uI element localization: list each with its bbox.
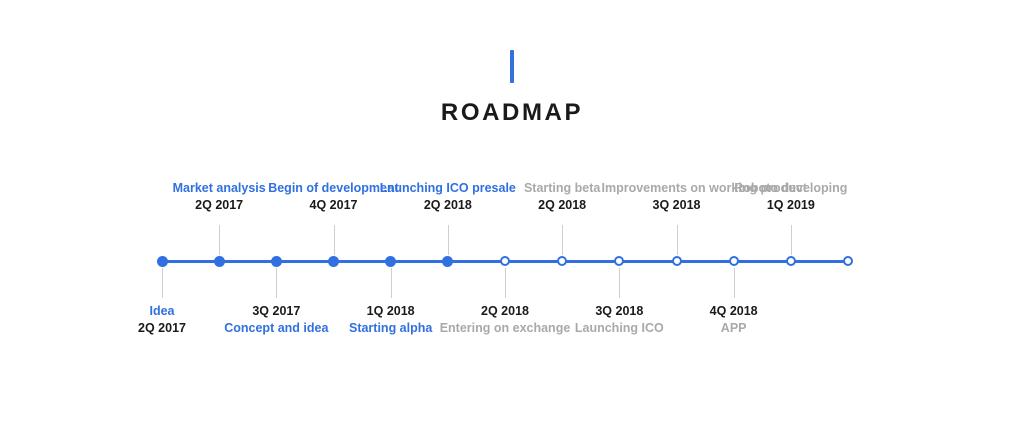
milestone-dot-hollow-icon — [500, 256, 510, 266]
milestone-label-top-5[interactable]: Roboto developing1Q 2019 — [716, 180, 866, 213]
milestone-dot-filled-icon — [214, 256, 225, 267]
milestone-dot-filled-icon — [328, 256, 339, 267]
milestone-dot-hollow-icon — [672, 256, 682, 266]
milestone-date: 4Q 2018 — [659, 303, 809, 320]
roadmap-infographic: ROADMAP Market analysis2Q 2017Begin of d… — [0, 0, 1024, 435]
connector-tick — [791, 225, 792, 255]
milestone-dot-hollow-icon — [843, 256, 853, 266]
milestone-dot-filled-icon — [271, 256, 282, 267]
milestone-date: 1Q 2019 — [716, 197, 866, 214]
milestone-dot-hollow-icon — [729, 256, 739, 266]
connector-tick — [734, 268, 735, 298]
connector-tick — [276, 268, 277, 298]
connector-tick — [391, 268, 392, 298]
connector-tick — [677, 225, 678, 255]
heading-block: ROADMAP — [0, 50, 1024, 125]
connector-tick — [448, 225, 449, 255]
milestone-dot-hollow-icon — [557, 256, 567, 266]
milestone-dot-filled-icon — [157, 256, 168, 267]
connector-tick — [619, 268, 620, 298]
page-title: ROADMAP — [0, 101, 1024, 125]
connector-tick — [505, 268, 506, 298]
milestone-dot-hollow-icon — [786, 256, 796, 266]
milestone-title: Roboto developing — [716, 180, 866, 197]
connector-tick — [219, 225, 220, 255]
milestone-dot-filled-icon — [385, 256, 396, 267]
connector-tick — [162, 268, 163, 298]
milestone-dot-filled-icon — [442, 256, 453, 267]
connector-tick — [334, 225, 335, 255]
milestone-label-bottom-5[interactable]: 4Q 2018APP — [659, 303, 809, 336]
milestone-dot-hollow-icon — [614, 256, 624, 266]
accent-bar-icon — [510, 50, 514, 83]
milestone-title: APP — [659, 320, 809, 337]
connector-tick — [562, 225, 563, 255]
